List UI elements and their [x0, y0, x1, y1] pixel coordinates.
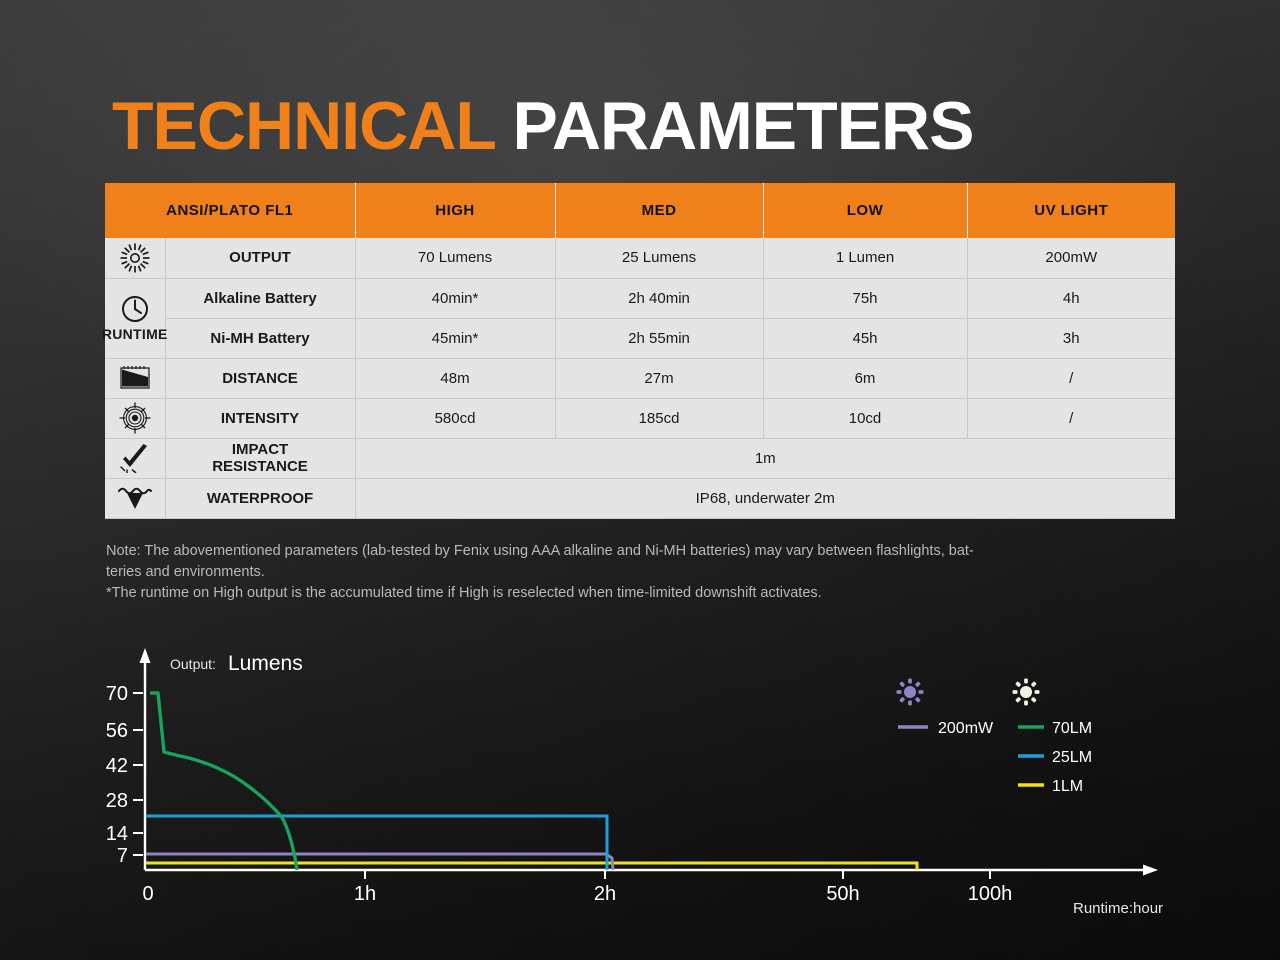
cell-intensity-uv: / — [967, 398, 1175, 438]
y-tick-label-14: 14 — [106, 823, 128, 845]
cell-nimh-low: 45h — [763, 318, 967, 358]
page-title: TECHNICAL PARAMETERS — [112, 92, 974, 160]
chart-y-ticks — [133, 693, 143, 855]
legend-label-1lm: 1LM — [1052, 778, 1083, 795]
table-row-runtime-nimh: Ni-MH Battery 45min* 2h 55min 45h 3h — [105, 318, 1175, 358]
cell-alkaline-med: 2h 40min — [555, 278, 763, 318]
table-header-cell-0: ANSI/PLATO FL1 — [105, 183, 355, 238]
legend-entry-25lm: 25LM — [1018, 749, 1092, 766]
row-label-nimh-battery: Ni-MH Battery — [165, 318, 355, 358]
legend-entry-70lm: 70LM — [1018, 720, 1092, 737]
cell-alkaline-low: 75h — [763, 278, 967, 318]
cell-distance-high: 48m — [355, 358, 555, 398]
table-header-cell-1: HIGH — [355, 183, 555, 238]
cell-nimh-uv: 3h — [967, 318, 1175, 358]
runtime-group-label: RUNTIME — [102, 326, 168, 342]
cell-output-uv: 200mW — [967, 238, 1175, 278]
cell-distance-uv: / — [967, 358, 1175, 398]
row-label-distance: DISTANCE — [165, 358, 355, 398]
series-line-70lm — [150, 693, 297, 870]
cell-intensity-med: 185cd — [555, 398, 763, 438]
runtime-chart: 70 56 42 28 14 7 0 1h 2h 50h 100h Output… — [0, 630, 1280, 930]
table-row-waterproof: WATERPROOF IP68, underwater 2m — [105, 478, 1175, 518]
cell-output-med: 25 Lumens — [555, 238, 763, 278]
y-tick-label-28: 28 — [106, 790, 128, 812]
sunburst-icon — [105, 238, 165, 278]
chart-x-ticks — [365, 870, 990, 879]
impact-label-line1: IMPACT — [232, 441, 288, 458]
table-row-output: OUTPUT 70 Lumens 25 Lumens 1 Lumen 200mW — [105, 238, 1175, 278]
uv-sunburst-icon — [897, 679, 924, 706]
note-line-2: teries and environments. — [106, 562, 1181, 583]
cell-intensity-low: 10cd — [763, 398, 967, 438]
chart-x-axis-title: Runtime:hour — [1073, 900, 1163, 917]
legend-label-25lm: 25LM — [1052, 749, 1092, 766]
cell-output-high: 70 Lumens — [355, 238, 555, 278]
spec-table: ANSI/PLATO FL1 HIGH MED LOW UV LIGHT — [105, 183, 1175, 519]
x-tick-label-50h: 50h — [826, 883, 859, 905]
page-title-rest: PARAMETERS — [495, 88, 974, 164]
y-tick-label-70: 70 — [106, 683, 128, 705]
cell-distance-med: 27m — [555, 358, 763, 398]
x-tick-label-0: 0 — [142, 883, 153, 905]
chart-output-label: Output: — [170, 656, 216, 672]
table-header-cell-3: LOW — [763, 183, 967, 238]
row-label-alkaline-battery: Alkaline Battery — [165, 278, 355, 318]
note-line-3: *The runtime on High output is the accum… — [106, 583, 1181, 604]
impact-label-line2: RESISTANCE — [212, 458, 308, 475]
table-row-impact-resistance: IMPACT RESISTANCE 1m — [105, 438, 1175, 478]
cell-intensity-high: 580cd — [355, 398, 555, 438]
cell-impact-resistance-value: 1m — [355, 438, 1175, 478]
clock-icon: RUNTIME — [105, 278, 165, 358]
note-block: Note: The abovementioned parameters (lab… — [106, 541, 1181, 604]
x-tick-label-2h: 2h — [594, 883, 616, 905]
y-tick-label-42: 42 — [106, 755, 128, 777]
cell-output-low: 1 Lumen — [763, 238, 967, 278]
legend-label-70lm: 70LM — [1052, 720, 1092, 737]
waterproof-icon — [105, 478, 165, 518]
x-tick-label-100h: 100h — [968, 883, 1013, 905]
note-line-1: Note: The abovementioned parameters (lab… — [106, 541, 1181, 562]
cell-waterproof-value: IP68, underwater 2m — [355, 478, 1175, 518]
table-header-row: ANSI/PLATO FL1 HIGH MED LOW UV LIGHT — [105, 183, 1175, 238]
table-header-cell-4: UV LIGHT — [967, 183, 1175, 238]
row-label-impact-resistance: IMPACT RESISTANCE — [165, 438, 355, 478]
cell-nimh-high: 45min* — [355, 318, 555, 358]
white-sunburst-icon — [1013, 679, 1040, 706]
legend-entry-200mw: 200mW — [898, 720, 994, 737]
cell-nimh-med: 2h 55min — [555, 318, 763, 358]
cell-alkaline-uv: 4h — [967, 278, 1175, 318]
cell-distance-low: 6m — [763, 358, 967, 398]
slide-background: TECHNICAL PARAMETERS ANSI/PLATO FL1 HIGH… — [0, 0, 1280, 960]
page-title-accent: TECHNICAL — [112, 88, 495, 164]
legend-label-200mw: 200mW — [938, 720, 994, 737]
table-row-distance: DISTANCE 48m 27m 6m / — [105, 358, 1175, 398]
y-tick-label-56: 56 — [106, 720, 128, 742]
table-header-cell-2: MED — [555, 183, 763, 238]
beam-distance-icon — [105, 358, 165, 398]
chart-y-axis — [140, 648, 151, 870]
row-label-output: OUTPUT — [165, 238, 355, 278]
x-tick-label-1h: 1h — [354, 883, 376, 905]
y-tick-label-7: 7 — [117, 845, 128, 867]
table-row-intensity: INTENSITY 580cd 185cd 10cd / — [105, 398, 1175, 438]
row-label-waterproof: WATERPROOF — [165, 478, 355, 518]
table-row-runtime-alkaline: RUNTIME Alkaline Battery 40min* 2h 40min… — [105, 278, 1175, 318]
target-intensity-icon — [105, 398, 165, 438]
cell-alkaline-high: 40min* — [355, 278, 555, 318]
impact-check-icon — [105, 438, 165, 478]
row-label-intensity: INTENSITY — [165, 398, 355, 438]
legend-entry-1lm: 1LM — [1018, 778, 1083, 795]
chart-lumens-label: Lumens — [228, 652, 303, 675]
